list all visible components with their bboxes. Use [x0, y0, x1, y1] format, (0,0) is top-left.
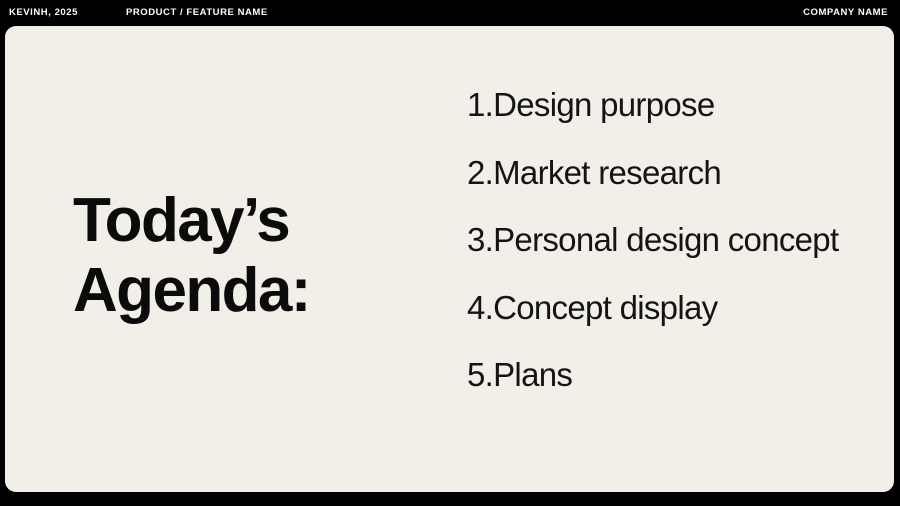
agenda-list-item-1: 1.Design purpose	[467, 86, 857, 124]
agenda-list-item-4: 4.Concept display	[467, 289, 857, 327]
slide-content-card: Today’s Agenda: 1.Design purpose 2.Marke…	[5, 26, 894, 492]
page-title: Today’s Agenda:	[73, 186, 433, 326]
header-company-name: COMPANY NAME	[803, 7, 888, 18]
agenda-list-item-2: 2.Market research	[467, 154, 857, 192]
presentation-slide: KEVINH, 2025 PRODUCT / FEATURE NAME COMP…	[0, 0, 900, 506]
agenda-list-item-3: 3.Personal design concept	[467, 221, 857, 259]
slide-header-bar: KEVINH, 2025 PRODUCT / FEATURE NAME COMP…	[0, 0, 900, 26]
header-product-feature-name: PRODUCT / FEATURE NAME	[126, 7, 268, 18]
agenda-list: 1.Design purpose 2.Market research 3.Per…	[467, 86, 857, 394]
header-author-year: KEVINH, 2025	[9, 7, 78, 18]
agenda-list-item-5: 5.Plans	[467, 356, 857, 394]
